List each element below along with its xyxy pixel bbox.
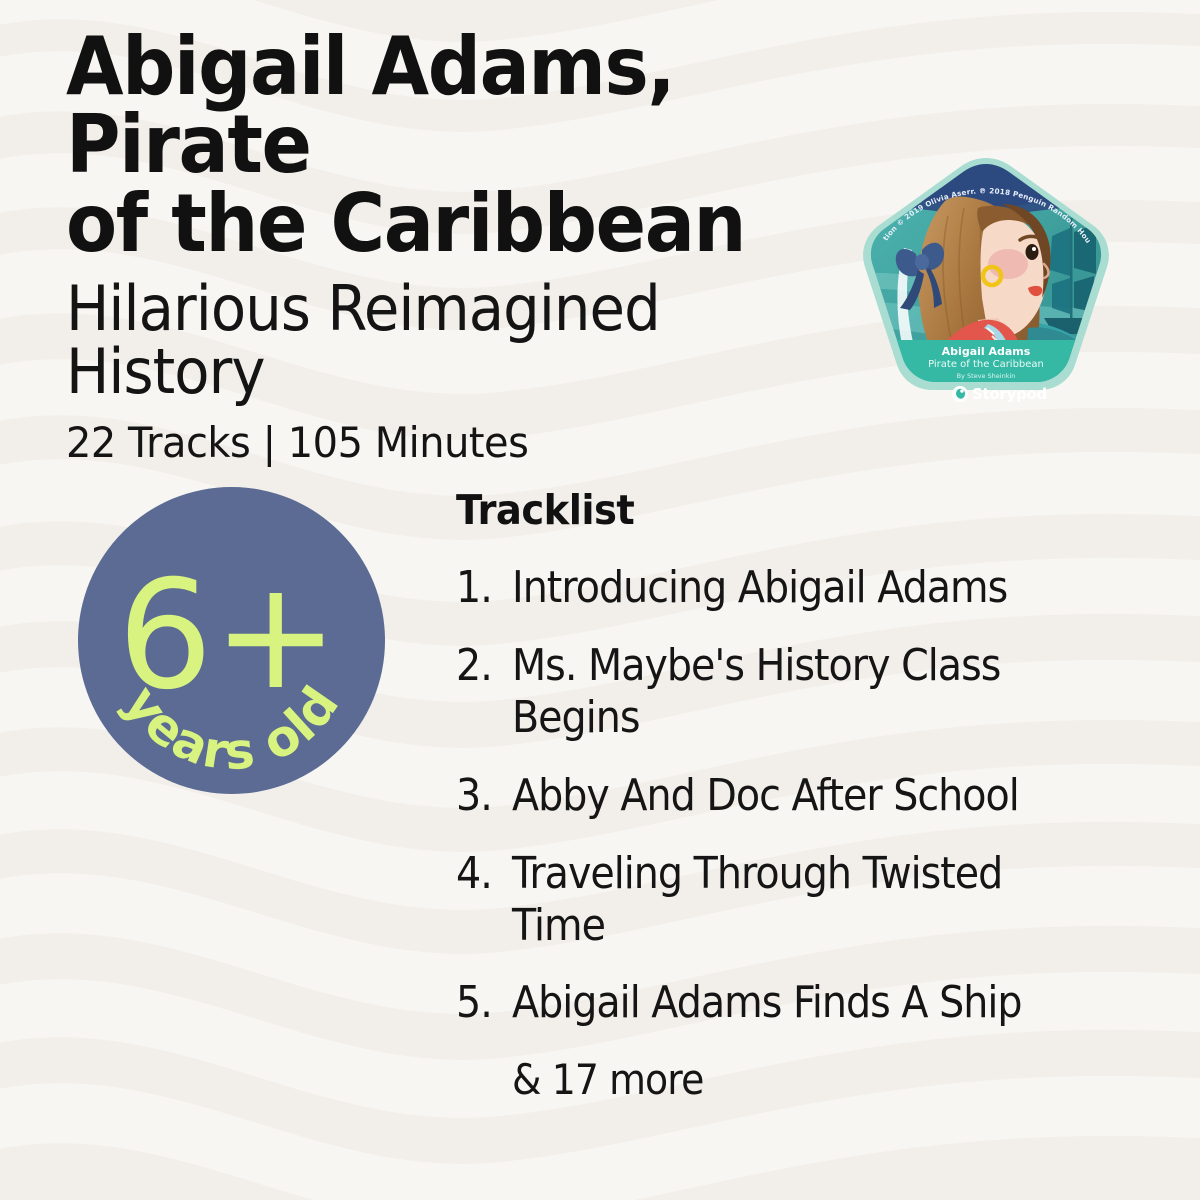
storypod-wordmark: Storypod <box>972 385 1047 403</box>
list-item: 5. Abigail Adams Finds A Ship <box>456 977 1168 1029</box>
track-title: Traveling Through Twisted Time <box>512 848 1102 952</box>
track-title: Ms. Maybe's History Class Begins <box>512 640 1102 744</box>
product-card: L01 Illustration © 2019 Olivia Aserr. ℗ … <box>852 158 1120 426</box>
track-duration-meta: 22 Tracks | 105 Minutes <box>66 420 826 466</box>
tracklist-heading: Tracklist <box>456 486 1125 534</box>
eye <box>1026 244 1039 260</box>
track-number: 3. <box>456 770 506 822</box>
tracklist-items: 1. Introducing Abigail Adams 2. Ms. Mayb… <box>456 562 1168 1029</box>
eye-highlight <box>1032 247 1036 251</box>
list-item: 4. Traveling Through Twisted Time <box>456 848 1168 952</box>
tracklist-section: Tracklist 1. Introducing Abigail Adams 2… <box>456 486 1168 1104</box>
card-author: By Steve Sheinkin <box>957 372 1016 380</box>
page-subtitle: Hilarious Reimagined History <box>66 277 810 403</box>
track-number: 1. <box>456 562 506 614</box>
cheek-blush <box>988 249 1028 279</box>
track-number: 2. <box>456 640 506 692</box>
track-title: Abigail Adams Finds A Ship <box>512 977 1102 1029</box>
card-title: Abigail Adams <box>942 345 1031 358</box>
list-item: 1. Introducing Abigail Adams <box>456 562 1168 614</box>
header-block: Abigail Adams, Pirate of the Caribbean H… <box>66 28 866 466</box>
card-subtitle: Pirate of the Caribbean <box>928 359 1044 370</box>
list-item: 2. Ms. Maybe's History Class Begins <box>456 640 1168 744</box>
page-title: Abigail Adams, Pirate of the Caribbean <box>66 28 810 263</box>
track-title: Abby And Doc After School <box>512 770 1102 822</box>
track-number: 5. <box>456 977 506 1029</box>
list-item: 3. Abby And Doc After School <box>456 770 1168 822</box>
storypod-logo-dot <box>960 389 964 393</box>
track-number: 4. <box>456 848 506 900</box>
track-title: Introducing Abigail Adams <box>512 562 1102 614</box>
tracklist-more-label: & 17 more <box>512 1055 1102 1104</box>
age-badge: 6+ years old <box>78 487 385 794</box>
